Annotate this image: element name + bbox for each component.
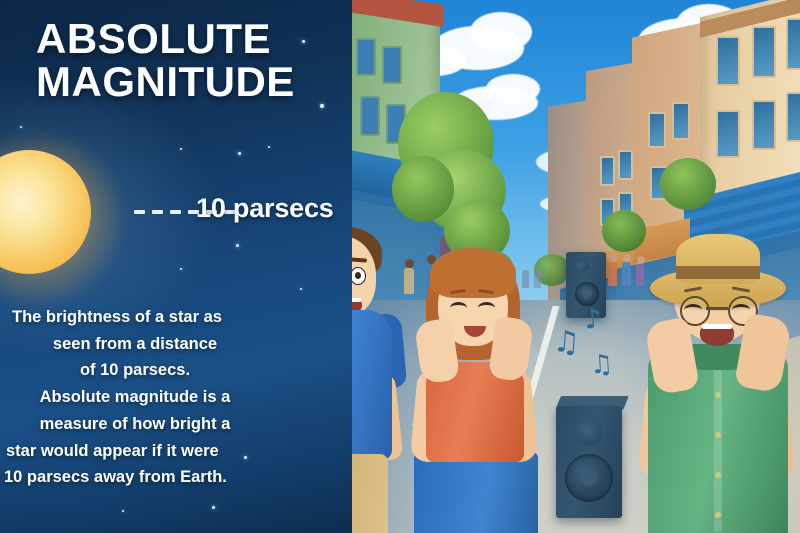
star-dot <box>212 506 215 509</box>
star-dot <box>20 126 22 128</box>
definition-line-5: measure of how bright a <box>4 411 266 438</box>
star-dot <box>238 152 241 155</box>
music-note-icon: ♪ <box>583 304 604 334</box>
tree-foliage <box>660 158 716 210</box>
window <box>648 112 666 148</box>
character-old-man <box>632 228 800 533</box>
star-dot <box>320 104 324 108</box>
cloud-icon <box>486 74 540 104</box>
star-dot <box>180 268 182 270</box>
page-title: ABSOLUTE MAGNITUDE <box>36 18 336 104</box>
definition-line-7: 10 parsecs away from Earth. <box>4 464 266 491</box>
character-woman <box>408 242 538 533</box>
woman-hair-front <box>430 248 516 298</box>
pedestrian <box>609 254 617 262</box>
star-dot <box>236 244 239 247</box>
straw-hat-band <box>676 266 760 279</box>
title-line-2: MAGNITUDE <box>36 61 336 104</box>
window <box>382 46 402 84</box>
dash-segment <box>152 210 163 214</box>
title-line-1: ABSOLUTE <box>36 18 336 61</box>
woman-eye-closed <box>478 302 495 314</box>
window <box>716 110 740 158</box>
definition-line-3: of 10 parsecs. <box>4 357 266 384</box>
cloud-icon <box>470 12 532 52</box>
pedestrian <box>608 262 617 286</box>
speaker-tweeter <box>576 420 602 446</box>
music-note-icon: ♫ <box>589 351 614 378</box>
oldman-button <box>715 512 721 518</box>
woman-eye-closed <box>450 302 467 314</box>
woman-hand-right-on-ear <box>488 316 534 383</box>
distance-label: 10 parsecs <box>196 193 334 224</box>
boy-pupil <box>355 272 361 279</box>
speaker-lower <box>556 396 628 520</box>
dash-segment <box>170 210 181 214</box>
info-panel: ABSOLUTE MAGNITUDE 10 parsecs The bright… <box>0 0 352 533</box>
definition-line-6: star would appear if it were <box>4 438 266 465</box>
music-note-icon: ♫ <box>552 327 581 359</box>
infographic-stage: ♪ ♫ ♫ <box>0 0 800 533</box>
window <box>752 100 776 150</box>
woman-skirt <box>414 452 538 533</box>
definition-line-2: seen from a distance <box>4 331 266 358</box>
window <box>600 156 615 186</box>
star-dot <box>180 148 182 150</box>
definition-line-1: The brightness of a star as <box>4 304 266 331</box>
dash-segment <box>134 210 145 214</box>
window <box>360 96 380 136</box>
oldman-button <box>715 392 721 398</box>
star-dot <box>300 288 302 290</box>
window <box>786 18 800 70</box>
oldman-shirt-placket <box>714 364 722 532</box>
window <box>672 102 690 140</box>
window <box>716 36 740 86</box>
oldman-teeth <box>702 324 732 329</box>
definition-line-4: Absolute magnitude is a <box>4 384 266 411</box>
oldman-eye-closed <box>732 304 750 316</box>
window <box>752 26 776 78</box>
window <box>356 38 376 76</box>
star-dot <box>268 146 270 148</box>
tree-foliage <box>392 156 454 222</box>
speaker-woofer-cap <box>582 289 592 299</box>
oldman-eye-closed <box>684 304 702 316</box>
glasses-bridge <box>706 307 728 310</box>
definition-text: The brightness of a star as seen from a … <box>4 304 266 491</box>
oldman-button <box>715 432 721 438</box>
pedestrian <box>622 262 631 286</box>
window <box>618 150 633 180</box>
oldman-button <box>715 472 721 478</box>
pedestrian <box>623 254 631 262</box>
star-dot <box>122 510 124 512</box>
window <box>786 92 800 142</box>
speaker-woofer-cap <box>581 470 597 486</box>
speaker-tweeter <box>574 262 589 271</box>
